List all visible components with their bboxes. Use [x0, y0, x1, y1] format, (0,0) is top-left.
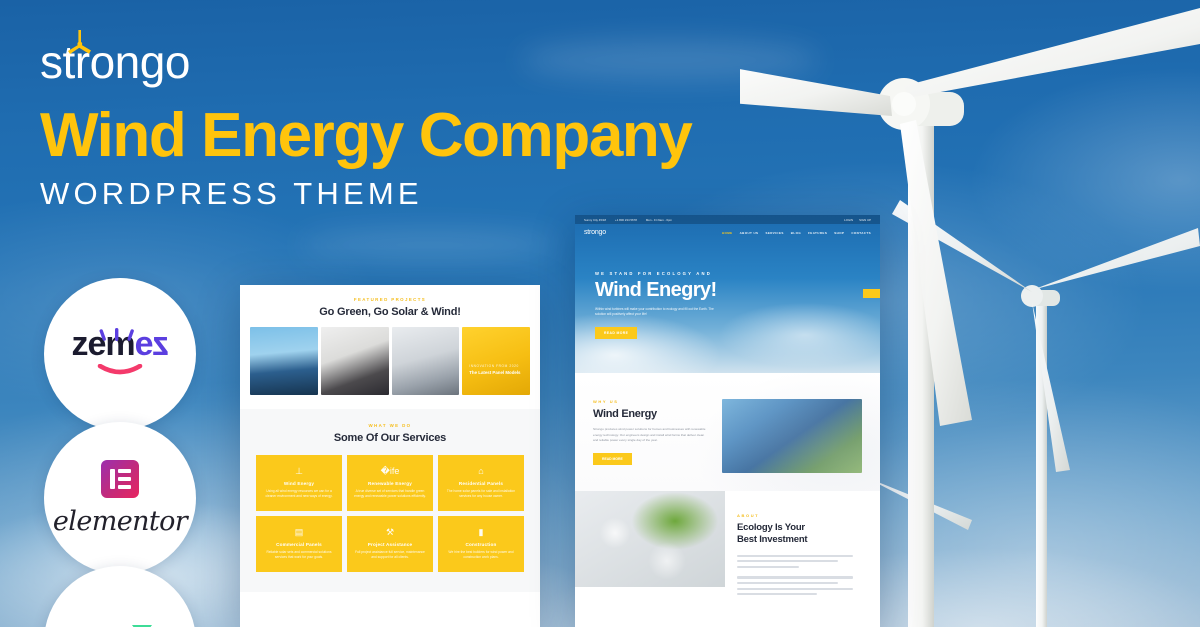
elementor-label: elementor — [53, 506, 187, 537]
solar-panels-photo[interactable] — [250, 327, 318, 395]
hero-title: Wind Enegry! — [595, 280, 717, 300]
topbar-address: Sunny City 45/18 — [584, 218, 606, 222]
elementor-bar — [118, 469, 131, 473]
panel-card-eyebrow: INNOVATION FROM 2020 — [469, 364, 520, 368]
house-icon: ⌂ — [478, 467, 483, 476]
menu-item-blog[interactable]: BLOG — [791, 231, 801, 235]
menu-item-features[interactable]: FEATURES — [808, 231, 827, 235]
site-navbar: strongo HOME ABOUT US SERVICES BLOG FEAT… — [575, 224, 880, 241]
service-title: Residential Panels — [459, 481, 503, 486]
service-card-project-assistance[interactable]: ⚒ Project Assistance Full project assist… — [347, 516, 433, 572]
wind-turbine-icon — [65, 28, 95, 67]
elementor-bar — [118, 477, 131, 481]
energy-eyebrow: WHY US — [593, 399, 708, 404]
zemez-smile-icon — [97, 363, 143, 381]
site-menu: HOME ABOUT US SERVICES BLOG FEATURES SHO… — [722, 231, 871, 235]
hero-eyebrow: WE STAND FOR ECOLOGY AND — [595, 271, 717, 276]
service-title: Construction — [466, 542, 497, 547]
service-card-wind-energy[interactable]: ⊥ Wind Energy Using all wind energy reso… — [256, 455, 342, 511]
projects-eyebrow: FEATURED PROJECTS — [250, 297, 530, 302]
topbar-signup-link[interactable]: SIGN UP — [859, 218, 871, 222]
service-desc: The home solar panels for sale and insta… — [444, 489, 518, 499]
projects-tiles: INNOVATION FROM 2020 The Latest Panel Mo… — [250, 327, 530, 395]
service-card-renewable-energy[interactable]: �ife Renewable Energy A true diverse set… — [347, 455, 433, 511]
wind-energy-section: WHY US Wind Energy Strongo produces wind… — [575, 373, 880, 491]
menu-item-about-us[interactable]: ABOUT US — [740, 231, 759, 235]
jet-logo-icon: Jet — [87, 622, 153, 627]
tower-icon: ▮ — [479, 528, 484, 537]
latest-panel-model-card[interactable]: INNOVATION FROM 2020 The Latest Panel Mo… — [462, 327, 530, 395]
site-topbar: Sunny City 45/18 +1 800 234 5678 Mon - F… — [575, 215, 880, 224]
lightbulbs-plant-photo — [575, 491, 725, 587]
site-hero: Sunny City 45/18 +1 800 234 5678 Mon - F… — [575, 215, 880, 373]
zemez-logo-icon: zemez — [71, 327, 168, 381]
hero-paragraph: Within wind turbines will make your cont… — [595, 307, 715, 318]
ecology-title-line1: Ecology Is Your — [737, 522, 866, 534]
page-subtitle: WORDPRESS THEME — [40, 177, 870, 211]
ecology-eyebrow: ABOUT — [737, 513, 866, 518]
service-title: Renewable Energy — [368, 481, 412, 486]
brand-logo: strongo — [40, 34, 870, 90]
service-title: Wind Energy — [284, 481, 314, 486]
hero-text-block: WE STAND FOR ECOLOGY AND Wind Enegry! Wi… — [595, 271, 717, 339]
menu-item-shop[interactable]: SHOP — [834, 231, 844, 235]
site-logo[interactable]: strongo — [584, 229, 606, 236]
service-title: Commercial Panels — [276, 542, 322, 547]
service-desc: Using all wind energy resources we can f… — [262, 489, 336, 499]
ecology-text-skeleton — [737, 555, 866, 596]
elementor-logo-icon — [101, 460, 139, 498]
theme-screenshot-center[interactable]: FEATURED PROJECTS Go Green, Go Solar & W… — [240, 285, 540, 627]
energy-cta-button[interactable]: READ MORE — [593, 453, 632, 465]
brand-logo-text: strongo — [40, 36, 190, 88]
topbar-login-link[interactable]: LOGIN — [844, 218, 853, 222]
zemez-text-c: z — [153, 327, 169, 361]
service-card-residential-panels[interactable]: ⌂ Residential Panels The home solar pane… — [438, 455, 524, 511]
service-card-construction[interactable]: ▮ Construction We hire the best builders… — [438, 516, 524, 572]
ecology-section: ABOUT Ecology Is Your Best Investment — [575, 491, 880, 587]
projects-heading: Go Green, Go Solar & Wind! — [250, 306, 530, 318]
panel-card-label: The Latest Panel Models — [469, 370, 520, 375]
badge-elementor[interactable]: elementor — [44, 422, 196, 574]
elementor-bars-horizontal — [118, 469, 131, 489]
promo-banner: strongo Wind Energy Company WORDPRESS TH… — [0, 0, 1200, 627]
zemez-crown-icon — [99, 314, 135, 348]
badge-jet[interactable]: Jet — [44, 566, 196, 627]
businessman-photo[interactable] — [321, 327, 389, 395]
handshake-icon: ⚒ — [386, 528, 394, 537]
menu-item-services[interactable]: SERVICES — [765, 231, 783, 235]
page-title: Wind Energy Company — [40, 104, 870, 167]
wind-turbine-icon: ⊥ — [295, 467, 303, 476]
services-eyebrow: WHAT WE DO — [256, 423, 524, 428]
service-card-commercial-panels[interactable]: ▤ Commercial Panels Reliable solar sets … — [256, 516, 342, 572]
hero-copy: strongo Wind Energy Company WORDPRESS TH… — [40, 34, 870, 211]
theme-screenshot-right[interactable]: Sunny City 45/18 +1 800 234 5678 Mon - F… — [575, 215, 880, 627]
ecology-title-line2: Best Investment — [737, 534, 866, 546]
plug-icon: �ife — [381, 467, 400, 476]
projects-section: FEATURED PROJECTS Go Green, Go Solar & W… — [240, 285, 540, 395]
energy-title: Wind Energy — [593, 408, 708, 420]
service-desc: Reliable solar sets and commercial solut… — [262, 550, 336, 560]
energy-paragraph: Strongo produces wind power solutions fo… — [593, 427, 708, 444]
elementor-bar-vertical — [110, 469, 115, 489]
topbar-phone: +1 800 234 5678 — [615, 218, 637, 222]
service-desc: A true diverse set of services that hand… — [353, 489, 427, 499]
worker-solar-panel-photo — [722, 399, 862, 473]
service-desc: We hire the best builders for wind power… — [444, 550, 518, 560]
zemez-text-b: e — [135, 325, 153, 363]
services-section: WHAT WE DO Some Of Our Services ⊥ Wind E… — [240, 409, 540, 592]
laptop-desk-photo[interactable] — [392, 327, 460, 395]
hero-cta-button[interactable]: READ MORE — [595, 327, 637, 339]
badge-zemez[interactable]: zemez — [44, 278, 196, 430]
services-grid: ⊥ Wind Energy Using all wind energy reso… — [256, 455, 524, 572]
topbar-hours: Mon - Fri 9am - 6pm — [646, 218, 672, 222]
building-icon: ▤ — [295, 528, 304, 537]
service-title: Project Assistance — [368, 542, 413, 547]
services-heading: Some Of Our Services — [256, 432, 524, 444]
hero-side-tab[interactable] — [863, 289, 880, 298]
service-desc: Full project assistance full service, ma… — [353, 550, 427, 560]
elementor-bar — [118, 485, 131, 489]
menu-item-home[interactable]: HOME — [722, 231, 733, 235]
menu-item-contacts[interactable]: CONTACTS — [851, 231, 871, 235]
partner-badges: zemez elementor — [44, 278, 196, 627]
